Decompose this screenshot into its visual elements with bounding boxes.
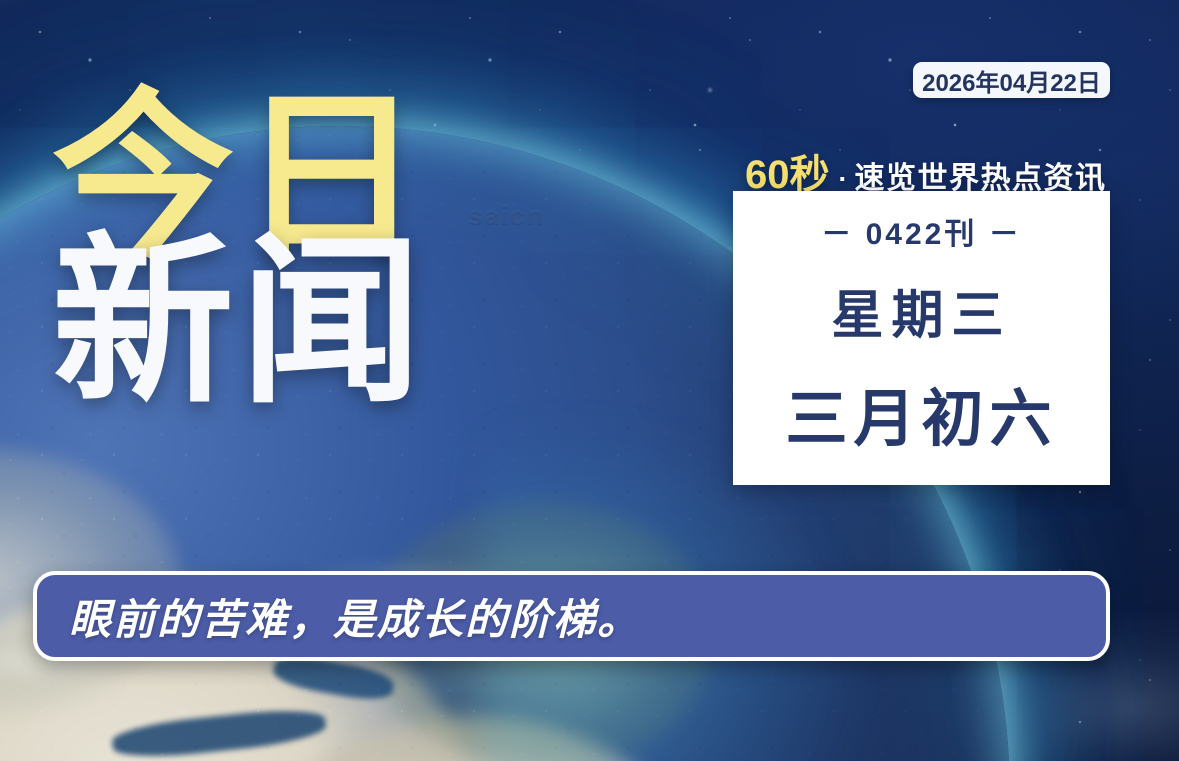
- date-badge-label: 2026年04月22日: [922, 63, 1101, 98]
- page-title: 今日 新闻: [52, 92, 472, 408]
- weekday-label: 星期三: [831, 273, 1011, 348]
- quote-text: 眼前的苦难，是成长的阶梯。: [69, 586, 641, 647]
- background-watermark: saicn: [468, 200, 545, 231]
- issue-number: － 0422刊 －: [821, 209, 1021, 253]
- poster-canvas: saicn 今日 新闻 2026年04月22日 60秒 · 速览世界热点资讯 －…: [0, 0, 1179, 761]
- quote-bar: 眼前的苦难，是成长的阶梯。: [33, 571, 1110, 661]
- date-badge: 2026年04月22日: [913, 62, 1110, 98]
- info-card: － 0422刊 － 星期三 三月初六: [733, 191, 1110, 485]
- lunar-date-label: 三月初六: [785, 368, 1057, 458]
- page-title-line-2: 新闻: [52, 237, 472, 408]
